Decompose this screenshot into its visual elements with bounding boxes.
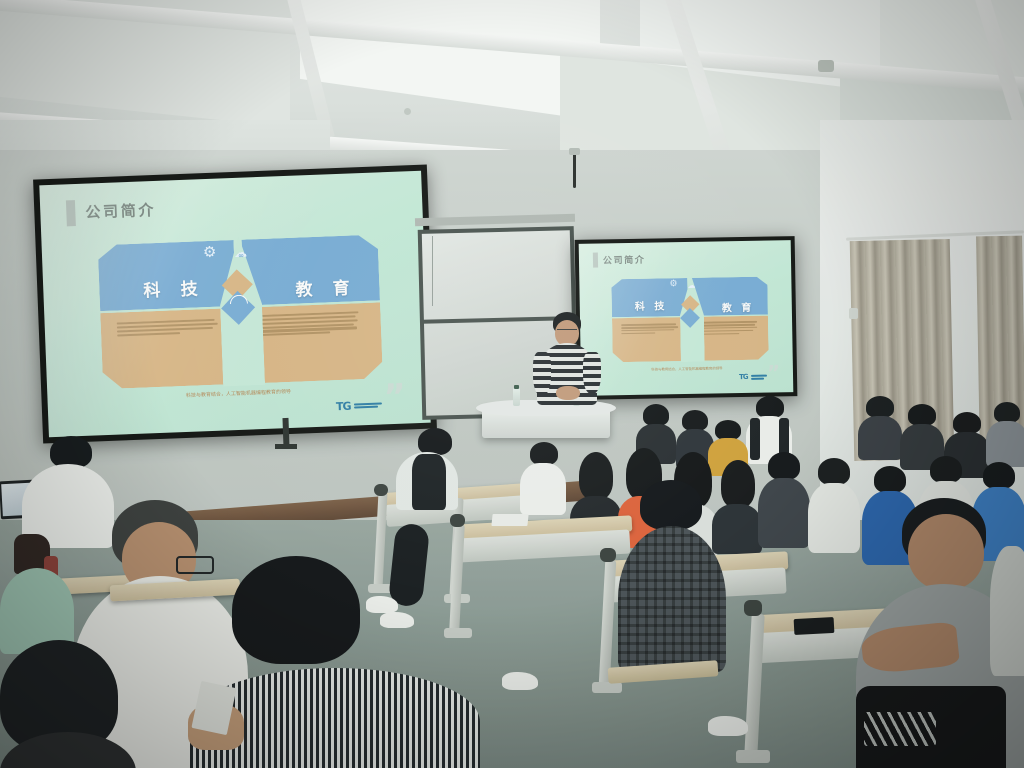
company-logo: TG bbox=[336, 398, 382, 413]
torso bbox=[990, 546, 1024, 676]
lecture-hall-photo: 公司简介 科 技 教 育 bbox=[0, 0, 1024, 768]
hair bbox=[530, 442, 558, 465]
audience-member bbox=[0, 640, 130, 768]
audience-member bbox=[990, 546, 1024, 676]
audience-member bbox=[808, 458, 860, 550]
torso bbox=[858, 416, 902, 460]
hair bbox=[866, 396, 894, 418]
hair bbox=[640, 480, 702, 530]
presenter-arm-right bbox=[583, 352, 601, 394]
diagram-body-text-left bbox=[117, 319, 221, 365]
screen-mount-plate bbox=[275, 444, 297, 449]
slide-title-accent-bar bbox=[593, 253, 598, 268]
vest bbox=[412, 454, 446, 510]
keyword-education: 教 育 bbox=[295, 273, 357, 300]
hair bbox=[756, 396, 784, 418]
presenter-speaker bbox=[528, 312, 608, 412]
slide-footer-text-secondary: 科技与教育结合，人工智能机器编程教育的领导 bbox=[581, 364, 793, 373]
audience-member bbox=[520, 442, 566, 512]
hair bbox=[682, 410, 708, 431]
hair bbox=[983, 462, 1015, 489]
hair bbox=[579, 452, 613, 500]
whiteboard-pull-cord bbox=[432, 236, 433, 306]
quote-glyph: ” bbox=[383, 386, 406, 411]
slide-title-accent-bar bbox=[66, 200, 76, 226]
slide-title-secondary: 公司简介 bbox=[603, 253, 646, 267]
desk-leg-foot bbox=[736, 750, 770, 763]
desk-armrest bbox=[450, 514, 465, 527]
audience-member bbox=[758, 452, 810, 544]
presenter-glasses bbox=[557, 329, 577, 334]
secondary-screen-surface: 公司简介 科 技 教 育 ⚙ bbox=[579, 240, 794, 396]
torso bbox=[618, 526, 726, 672]
hanging-cable-clip bbox=[569, 148, 580, 155]
audience-member-back-left bbox=[396, 428, 464, 524]
hair bbox=[715, 420, 741, 440]
audience-member bbox=[986, 402, 1024, 464]
keyword-technology: 科 技 bbox=[143, 274, 205, 301]
logo-mark-secondary: TG bbox=[739, 373, 748, 381]
logo-wordmark bbox=[353, 402, 381, 408]
hair bbox=[994, 402, 1020, 423]
slide-company-intro: 公司简介 科 技 教 育 bbox=[39, 171, 430, 437]
garment-print-text bbox=[864, 712, 936, 746]
cloud-infinity-glyph: ∞ bbox=[238, 252, 244, 260]
audience-member bbox=[858, 396, 902, 458]
screen-surface: 公司简介 科 技 教 育 bbox=[39, 171, 430, 437]
diagram-body-text-right bbox=[256, 311, 362, 371]
main-projector-screen[interactable]: 公司简介 科 技 教 育 bbox=[33, 165, 437, 444]
hair bbox=[418, 428, 452, 455]
slide-company-intro-secondary: 公司简介 科 技 教 育 ⚙ bbox=[579, 240, 794, 396]
ceiling-light-panel bbox=[300, 0, 600, 121]
wall-switch[interactable] bbox=[849, 308, 858, 319]
desk-armrest bbox=[374, 484, 388, 496]
logo-wordmark-secondary bbox=[751, 374, 767, 379]
diagram-body-text-left bbox=[621, 323, 679, 348]
torso bbox=[808, 483, 860, 553]
gear-icon: ⚙ bbox=[669, 280, 677, 289]
desk-armrest bbox=[600, 548, 616, 562]
water-bottle-cap bbox=[514, 385, 519, 389]
head bbox=[908, 514, 984, 590]
hanging-cable bbox=[573, 152, 576, 188]
presenter-arm-left bbox=[533, 352, 551, 396]
secondary-projector-screen[interactable]: 公司简介 科 技 教 育 ⚙ bbox=[575, 236, 798, 400]
hair bbox=[768, 452, 800, 480]
torso bbox=[758, 478, 810, 548]
logo-mark: TG bbox=[336, 400, 351, 414]
desk-leg-foot bbox=[592, 682, 622, 693]
diagram-body-text-right bbox=[699, 321, 760, 354]
hair bbox=[908, 404, 936, 426]
audience-member-plaid bbox=[618, 480, 726, 676]
slide-title: 公司简介 bbox=[85, 199, 157, 223]
keyword-technology-secondary: 科 技 bbox=[635, 297, 668, 313]
hair bbox=[643, 404, 669, 426]
hair bbox=[930, 456, 962, 483]
quote-glyph-secondary: ” bbox=[767, 365, 780, 379]
hair bbox=[232, 556, 360, 664]
keyword-education-secondary: 教 育 bbox=[722, 299, 755, 315]
ceiling-sensor bbox=[404, 108, 411, 115]
ceiling-smoke-detector bbox=[818, 60, 834, 72]
company-logo-secondary: TG bbox=[739, 373, 767, 381]
audience-member bbox=[0, 560, 74, 650]
cloud-infinity-icon: ☁ bbox=[687, 282, 695, 290]
hair bbox=[818, 458, 850, 485]
smartphone-on-desk[interactable] bbox=[794, 617, 835, 635]
paper-sheet[interactable] bbox=[491, 514, 528, 526]
water-bottle[interactable] bbox=[513, 388, 520, 406]
hair bbox=[874, 466, 906, 493]
desk-leg-foot bbox=[444, 628, 472, 638]
torso bbox=[520, 463, 566, 515]
shoe bbox=[708, 716, 748, 736]
presenter-hands bbox=[556, 386, 580, 400]
torso bbox=[986, 421, 1024, 467]
hair bbox=[721, 460, 755, 508]
hair bbox=[953, 412, 981, 434]
shoe bbox=[502, 672, 538, 690]
gear-icon: ⚙ bbox=[203, 245, 217, 261]
desk-armrest bbox=[744, 600, 762, 616]
